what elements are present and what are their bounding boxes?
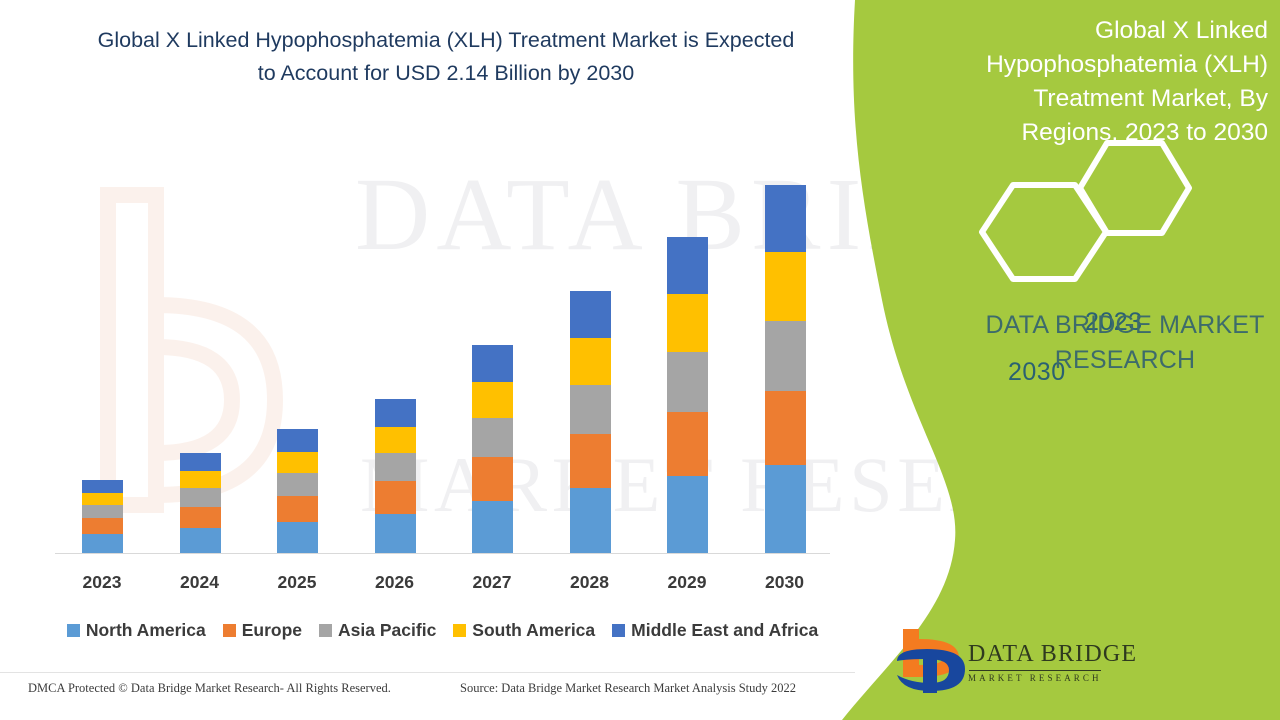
infographic-canvas: DATA BRIDGE MARKET RESEARCH Global X Lin… [0,0,1280,720]
legend-label: Europe [242,620,302,641]
stacked-bar-chart [55,150,830,554]
segment-2027-south-america [472,382,513,418]
legend-item-south-america[interactable]: South America [453,620,595,641]
legend-label: Asia Pacific [338,620,436,641]
segment-2023-middle-east-and-africa [82,480,123,493]
legend-label: South America [472,620,595,641]
segment-2029-middle-east-and-africa [667,237,708,294]
legend-label: North America [86,620,206,641]
footer-copyright: DMCA Protected © Data Bridge Market Rese… [28,681,391,696]
segment-2024-europe [180,507,221,528]
segment-2024-south-america [180,471,221,488]
chart-legend: North AmericaEuropeAsia PacificSouth Ame… [55,618,830,642]
segment-2023-south-america [82,493,123,505]
legend-swatch-icon [67,624,80,637]
segment-2023-asia-pacific [82,505,123,518]
legend-item-europe[interactable]: Europe [223,620,302,641]
x-label-2027: 2027 [462,572,522,593]
footer-source: Source: Data Bridge Market Research Mark… [460,681,796,696]
segment-2027-europe [472,457,513,500]
x-label-2025: 2025 [267,572,327,593]
segment-2027-asia-pacific [472,418,513,457]
bar-2028 [570,291,611,554]
bar-2024 [180,453,221,554]
segment-2026-south-america [375,427,416,453]
segment-2028-asia-pacific [570,385,611,434]
legend-label: Middle East and Africa [631,620,818,641]
segment-2029-south-america [667,294,708,351]
x-axis-labels: 20232024202520262027202820292030 [55,572,830,596]
segment-2028-south-america [570,338,611,385]
panel-brand-text: DATA BRIDGE MARKET RESEARCH [975,308,1275,378]
logo-text-block: DATA BRIDGE MARKET RESEARCH [968,641,1137,683]
segment-2025-asia-pacific [277,473,318,496]
hexagon-outline-icon [975,140,1195,285]
segment-2026-europe [375,481,416,514]
segment-2027-middle-east-and-africa [472,345,513,382]
segment-2025-europe [277,496,318,522]
segment-2023-north-america [82,534,123,554]
segment-2030-south-america [765,252,806,320]
segment-2029-europe [667,412,708,476]
x-label-2026: 2026 [365,572,425,593]
logo-name: DATA BRIDGE [968,641,1137,668]
x-label-2028: 2028 [560,572,620,593]
bar-2025 [277,429,318,554]
panel-title: Global X Linked Hypophosphatemia (XLH) T… [948,14,1268,150]
x-label-2030: 2030 [755,572,815,593]
segment-2029-asia-pacific [667,352,708,412]
bar-2027 [472,345,513,554]
legend-swatch-icon [223,624,236,637]
segment-2028-north-america [570,488,611,554]
segment-2024-asia-pacific [180,488,221,506]
x-label-2024: 2024 [170,572,230,593]
bar-2026 [375,399,416,554]
segment-2024-middle-east-and-africa [180,453,221,471]
segment-2030-middle-east-and-africa [765,185,806,252]
page-title: Global X Linked Hypophosphatemia (XLH) T… [96,24,796,90]
segment-2029-north-america [667,476,708,554]
segment-2030-asia-pacific [765,321,806,391]
legend-swatch-icon [319,624,332,637]
segment-2024-north-america [180,528,221,554]
segment-2026-asia-pacific [375,453,416,481]
segment-2023-europe [82,518,123,534]
x-label-2029: 2029 [657,572,717,593]
segment-2025-south-america [277,452,318,473]
legend-item-middle-east-and-africa[interactable]: Middle East and Africa [612,620,818,641]
segment-2027-north-america [472,501,513,554]
logo-divider [969,670,1101,671]
legend-swatch-icon [453,624,466,637]
x-label-2023: 2023 [72,572,132,593]
segment-2028-middle-east-and-africa [570,291,611,338]
segment-2026-north-america [375,514,416,554]
segment-2030-north-america [765,465,806,554]
hexagon-badges: 2023 2030 [975,140,1195,285]
logo-tagline: MARKET RESEARCH [968,673,1137,683]
legend-item-asia-pacific[interactable]: Asia Pacific [319,620,436,641]
segment-2025-north-america [277,522,318,554]
legend-item-north-america[interactable]: North America [67,620,206,641]
segment-2026-middle-east-and-africa [375,399,416,427]
segment-2030-europe [765,391,806,465]
bar-2023 [82,480,123,554]
segment-2025-middle-east-and-africa [277,429,318,452]
legend-swatch-icon [612,624,625,637]
segment-2028-europe [570,434,611,488]
bar-2030 [765,185,806,554]
x-axis-line [55,553,830,554]
footer-divider [0,672,855,673]
bar-2029 [667,237,708,554]
